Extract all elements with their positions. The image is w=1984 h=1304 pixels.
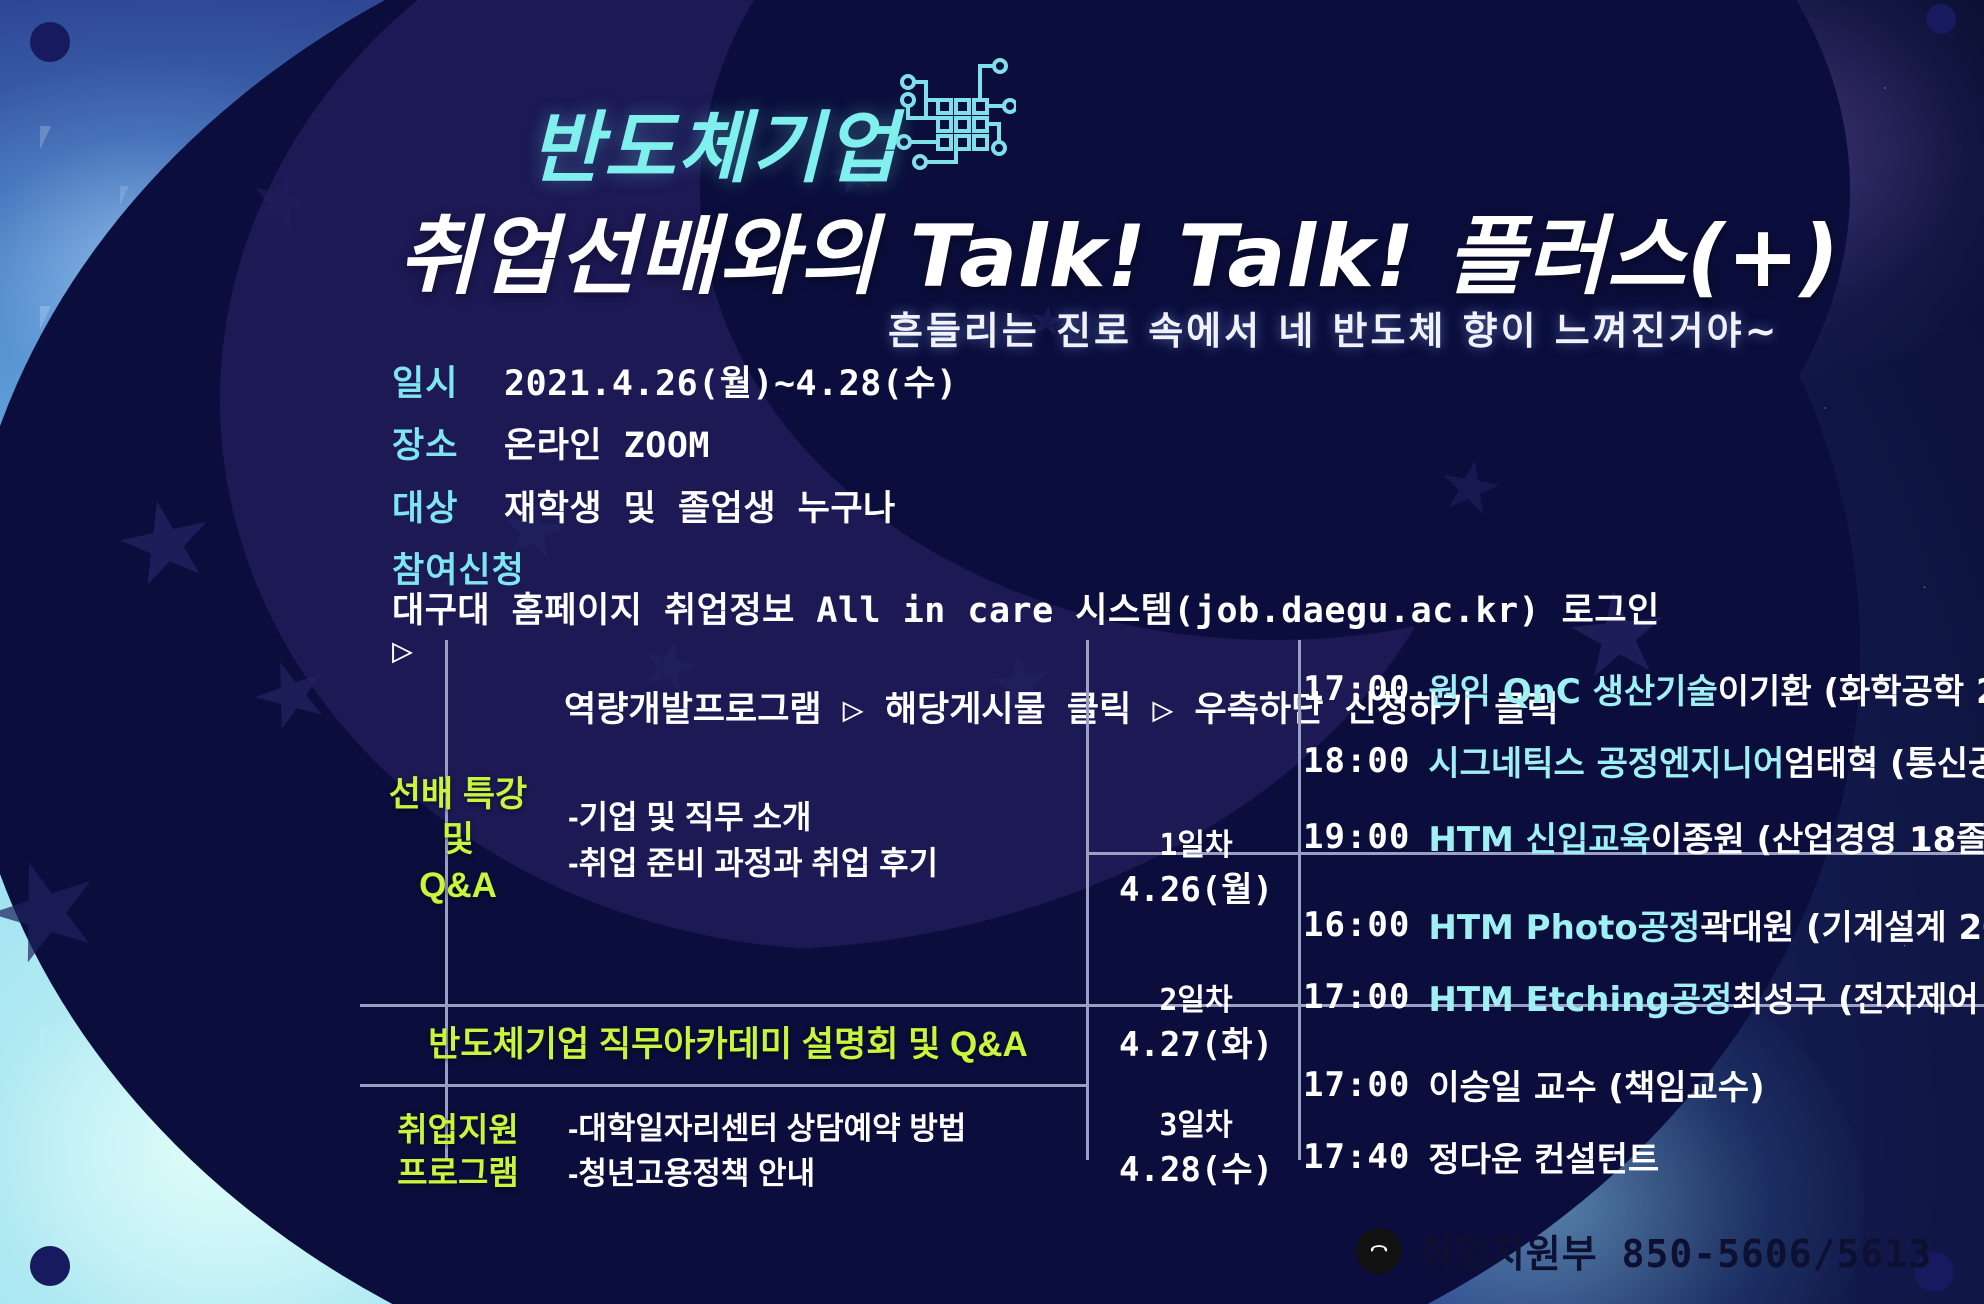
session-time: 16:00 [1303, 905, 1410, 945]
topic-support-line1: 취업지원 [368, 1109, 548, 1152]
desc-senior-talk: -기업 및 직무 소개 -취업 준비 과정과 취업 후기 [568, 680, 1088, 1000]
session-row: 18:00 시그네틱스 공정엔지니어 엄태혁 (통신공학 19졸업) [1303, 736, 1984, 785]
desc-senior-line2: -취업 준비 과정과 취업 후기 [568, 840, 1088, 886]
subtitle: 흔들리는 진로 속에서 네 반도체 향이 느껴진거야~ [888, 300, 1779, 355]
session-company-role: 시그네틱스 공정엔지니어 [1428, 736, 1784, 785]
day-cell-2: 2일차 4.27(화) [1108, 980, 1284, 1070]
session-row: 16:00 HTM Photo공정 곽대원 (기계설계 20졸업) [1303, 900, 1984, 949]
audience-label: 대상 [392, 489, 504, 529]
session-row: 17:00 원익 QnC 생산기술 이기환 (화학공학 20졸업) [1303, 664, 1984, 713]
session-speaker: 곽대원 (기계설계 20졸업) [1700, 900, 1984, 949]
session-speaker: 최성구 (전자제어 20졸업) [1732, 972, 1984, 1021]
schedule-table: 선배 특강 및 Q&A -기업 및 직무 소개 -취업 준비 과정과 취업 후기… [368, 640, 1758, 1160]
session-row: 17:40 정다운 컨설턴트 [1303, 1132, 1659, 1181]
place-value: 온라인 ZOOM [504, 426, 710, 466]
info-row-date: 일시 2021.4.26(월)~4.28(수) [392, 364, 1692, 404]
session-company-role: HTM Photo공정 [1428, 900, 1700, 949]
session-speaker: 엄태혁 (통신공학 19졸업) [1784, 736, 1984, 785]
session-time: 19:00 [1303, 817, 1410, 857]
day-1-date: 4.26(월) [1108, 867, 1284, 915]
session-time: 17:00 [1303, 669, 1410, 709]
session-time: 17:40 [1303, 1137, 1410, 1177]
desc-support-line1: -대학일자리센터 상담예약 방법 [568, 1107, 1088, 1152]
topic-senior-talk: 선배 특강 및 Q&A [368, 680, 548, 1000]
session-speaker: 이기환 (화학공학 20졸업) [1718, 664, 1984, 713]
session-speaker: 이승일 교수 (책임교수) [1428, 1060, 1764, 1109]
session-time: 18:00 [1303, 741, 1410, 781]
info-row-place: 장소 온라인 ZOOM [392, 426, 1692, 466]
topic-senior-line1: 선배 특강 [368, 772, 548, 818]
desc-senior-line1: -기업 및 직무 소개 [568, 794, 1088, 840]
session-row: 17:00 이승일 교수 (책임교수) [1303, 1060, 1765, 1109]
session-company-role: 원익 QnC 생산기술 [1428, 664, 1717, 713]
table-hline-support [360, 1084, 1086, 1087]
poster: 반도체기업 [0, 0, 1984, 1304]
phone-icon [1356, 1228, 1402, 1274]
page-title: 취업선배와의 Talk! Talk! 플러스(+) [398, 186, 1840, 311]
session-company-role: HTM 신입교육 [1428, 812, 1650, 861]
table-vline-3 [1298, 640, 1301, 1160]
session-time: 17:00 [1303, 1065, 1410, 1105]
topic-senior-line3: Q&A [368, 863, 548, 909]
date-label: 일시 [392, 364, 504, 404]
day-2-date: 4.27(화) [1108, 1022, 1284, 1070]
session-speaker: 이종원 (산업경영 18졸업) [1651, 812, 1984, 861]
day-2-number: 2일차 [1108, 980, 1284, 1022]
day-cell-1: 1일차 4.26(월) [1108, 825, 1284, 915]
session-company-role: HTM Etching공정 [1428, 972, 1732, 1021]
topic-support-program: 취업지원 프로그램 [368, 1092, 548, 1212]
audience-value: 재학생 및 졸업생 누구나 [504, 489, 896, 529]
session-row: 19:00 HTM 신입교육 이종원 (산업경영 18졸업) [1303, 812, 1984, 861]
day-3-date: 4.28(수) [1108, 1147, 1284, 1195]
topic-job-academy: 반도체기업 직무아카데미 설명회 및 Q&A [368, 1008, 1088, 1082]
footer-text: 취업지원부 850-5606/5613 [1418, 1223, 1932, 1278]
day-3-number: 3일차 [1108, 1105, 1284, 1147]
session-speaker: 정다운 컨설턴트 [1428, 1132, 1659, 1181]
topic-senior-line2: 및 [368, 817, 548, 863]
footer-contact: 취업지원부 850-5606/5613 [1356, 1223, 1932, 1278]
session-time: 17:00 [1303, 977, 1410, 1017]
place-label: 장소 [392, 426, 504, 466]
date-value: 2021.4.26(월)~4.28(수) [504, 364, 958, 404]
desc-support-program: -대학일자리센터 상담예약 방법 -청년고용정책 안내 [568, 1092, 1088, 1212]
day-1-number: 1일차 [1108, 825, 1284, 867]
eyebrow-title: 반도체기업 [530, 86, 899, 198]
apply-label: 참여신청 [392, 551, 564, 591]
circuit-chip-icon [886, 44, 1016, 174]
info-row-audience: 대상 재학생 및 졸업생 누구나 [392, 489, 1692, 529]
session-row: 17:00 HTM Etching공정 최성구 (전자제어 20졸업) [1303, 972, 1984, 1021]
topic-support-line2: 프로그램 [368, 1152, 548, 1195]
desc-support-line2: -청년고용정책 안내 [568, 1152, 1088, 1197]
day-cell-3: 3일차 4.28(수) [1108, 1105, 1284, 1195]
